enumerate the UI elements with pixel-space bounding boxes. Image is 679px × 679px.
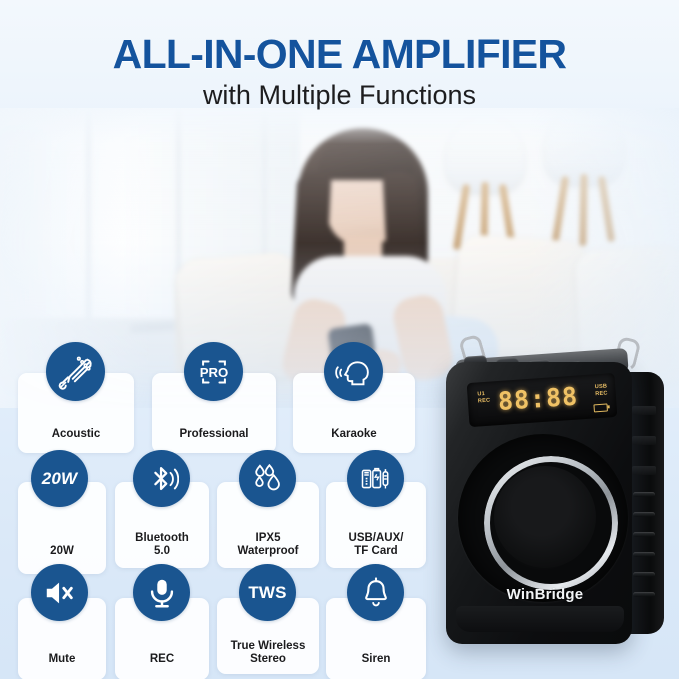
side-vent: [633, 592, 655, 597]
side-vent: [633, 532, 655, 537]
feature-row-3: Mute REC: [0, 558, 430, 668]
feature-label-line2: Waterproof: [238, 545, 299, 557]
page-title: ALL-IN-ONE AMPLIFIER: [0, 31, 679, 78]
feature-row-2: 20W 20W Bluetooth 5.0 IPX5: [0, 446, 430, 558]
bluetooth-icon: [133, 450, 190, 507]
feature-label: Siren: [362, 653, 391, 666]
microphone-icon: [133, 564, 190, 621]
side-vent: [633, 572, 655, 577]
product-image-amplifier: U1REC 88:88 USBREC WinBridge: [424, 330, 679, 660]
side-vent: [633, 552, 655, 557]
battery-icon: [593, 403, 608, 412]
feature-label: Karaoke: [331, 428, 376, 441]
side-control-label: [632, 406, 656, 415]
feature-label-line1: True Wireless: [231, 640, 306, 652]
feature-label-line1: Bluetooth: [135, 532, 189, 544]
side-vent: [633, 492, 655, 497]
feature-label: USB/AUX/ TF Card: [349, 532, 404, 558]
feature-label-line2: Stereo: [250, 653, 286, 665]
feature-label-line2: 5.0: [154, 545, 170, 557]
feature-label-line1: USB/AUX/: [349, 532, 404, 544]
page-subtitle: with Multiple Functions: [0, 80, 679, 111]
pro-badge-icon: PRO: [184, 342, 243, 401]
display-value: 88:88: [497, 382, 579, 417]
bell-icon: [347, 564, 404, 621]
display-left-labels: U1REC: [477, 391, 490, 406]
feature-label: IPX5 Waterproof: [238, 532, 299, 558]
feature-label: REC: [150, 653, 174, 666]
tws-badge-icon: TWS: [239, 564, 296, 621]
singing-head-icon: [324, 342, 383, 401]
guitar-headstock-icon: [46, 342, 105, 401]
feature-row-1: Acoustic: [0, 336, 430, 446]
side-control-label: [632, 436, 656, 445]
brand-logo: WinBridge: [470, 586, 620, 603]
feature-label-line1: IPX5: [256, 532, 281, 544]
icon-text: 20W: [42, 469, 78, 489]
power-20w-icon: 20W: [31, 450, 88, 507]
product-feature-banner: ALL-IN-ONE AMPLIFIER with Multiple Funct…: [0, 0, 679, 679]
feature-label: Bluetooth 5.0: [135, 532, 189, 558]
feature-label: 20W: [50, 545, 74, 558]
svg-text:PRO: PRO: [199, 365, 228, 380]
speaker-cone: [494, 466, 596, 568]
side-control-label: [632, 466, 656, 475]
water-drops-icon: [239, 450, 296, 507]
icon-text: TWS: [248, 583, 286, 603]
feature-label: Acoustic: [52, 428, 101, 441]
feature-label: True Wireless Stereo: [231, 640, 306, 666]
usb-aux-tfcard-icon: [347, 450, 404, 507]
speaker-mute-icon: [31, 564, 88, 621]
feature-label: Professional: [179, 428, 248, 441]
feature-label: Mute: [49, 653, 76, 666]
side-vent: [633, 512, 655, 517]
display-right-labels: USBREC: [595, 383, 608, 398]
feature-grid: Acoustic: [0, 336, 430, 668]
product-base: [456, 606, 624, 632]
feature-label-line2: TF Card: [354, 545, 397, 557]
